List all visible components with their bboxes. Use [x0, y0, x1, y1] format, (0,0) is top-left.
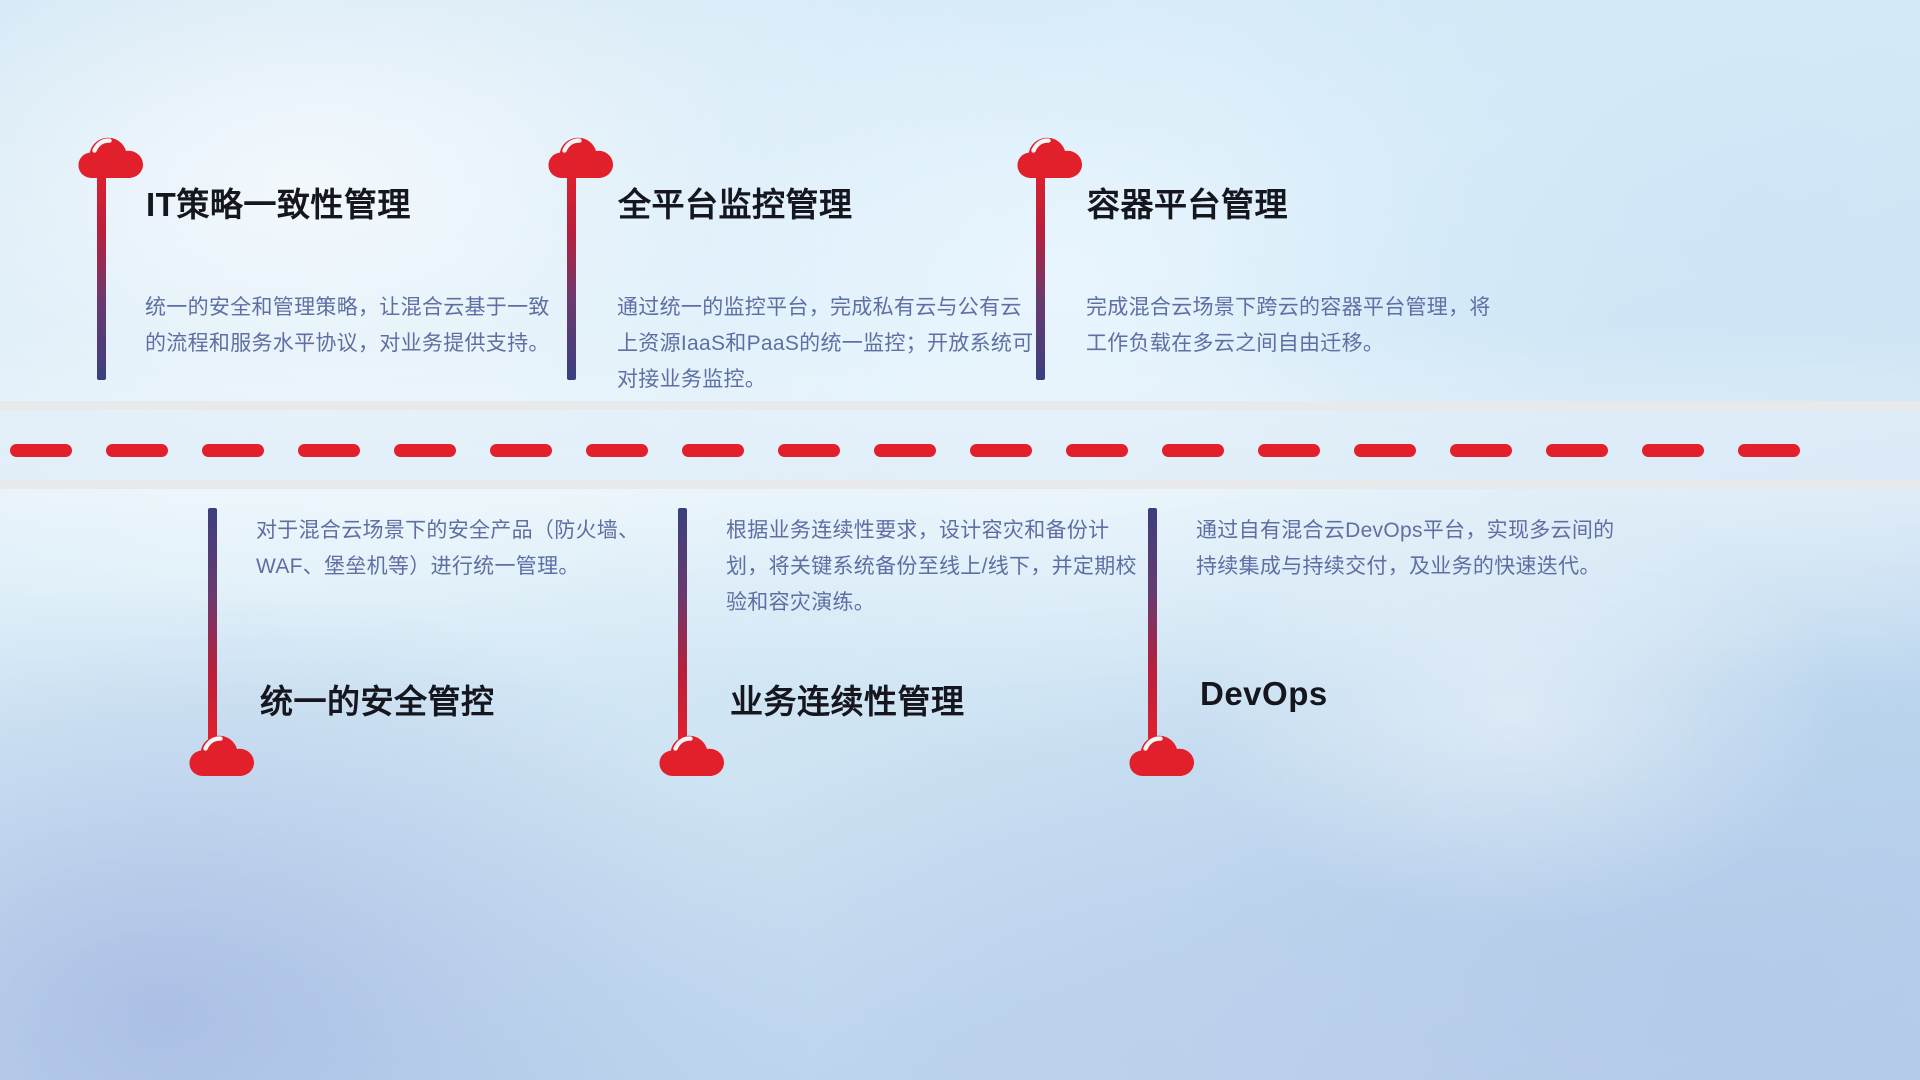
road-dash [202, 444, 264, 457]
road-dash [394, 444, 456, 457]
road-dash [874, 444, 936, 457]
road-dash [298, 444, 360, 457]
road-dash [970, 444, 1032, 457]
feature-title: 统一的安全管控 [260, 675, 495, 723]
connector-line [1036, 168, 1045, 380]
road-dash [1066, 444, 1128, 457]
cloud-icon [659, 730, 725, 778]
road-dash [1738, 444, 1800, 457]
feature-description: 对于混合云场景下的安全产品（防火墙、WAF、堡垒机等）进行统一管理。 [256, 513, 676, 585]
feature-title: IT策略一致性管理 [146, 178, 411, 226]
road-dash [1162, 444, 1224, 457]
road-dash [10, 444, 72, 457]
feature-description: 统一的安全和管理策略，让混合云基于一致的流程和服务水平协议，对业务提供支持。 [145, 290, 565, 362]
road-dash [490, 444, 552, 457]
road-edge-bottom [0, 480, 1920, 489]
cloud-icon [189, 730, 255, 778]
feature-title: 业务连续性管理 [730, 675, 965, 723]
cloud-icon [78, 132, 144, 180]
feature-description: 通过自有混合云DevOps平台，实现多云间的持续集成与持续交付，及业务的快速迭代… [1196, 513, 1616, 585]
road-dash [106, 444, 168, 457]
connector-line [567, 168, 576, 380]
feature-title: DevOps [1200, 675, 1328, 713]
connector-line [678, 508, 687, 740]
cloud-icon [548, 132, 614, 180]
connector-line [208, 508, 217, 740]
road-center-dashes [0, 443, 1920, 457]
road-dash [1546, 444, 1608, 457]
feature-title: 容器平台管理 [1087, 178, 1288, 226]
feature-title: 全平台监控管理 [618, 178, 853, 226]
road-dash [778, 444, 840, 457]
connector-line [97, 168, 106, 380]
cloud-icon [1129, 730, 1195, 778]
road-edge-top [0, 401, 1920, 410]
connector-line [1148, 508, 1157, 740]
road-dash [586, 444, 648, 457]
feature-description: 通过统一的监控平台，完成私有云与公有云上资源IaaS和PaaS的统一监控；开放系… [617, 290, 1037, 398]
feature-description: 根据业务连续性要求，设计容灾和备份计划，将关键系统备份至线上/线下，并定期校验和… [726, 513, 1146, 621]
cloud-icon [1017, 132, 1083, 180]
road-dash [682, 444, 744, 457]
road-dash [1258, 444, 1320, 457]
road-dash [1450, 444, 1512, 457]
road-dash [1354, 444, 1416, 457]
infographic-canvas: IT策略一致性管理 统一的安全和管理策略，让混合云基于一致的流程和服务水平协议，… [0, 0, 1920, 1080]
road-dash [1642, 444, 1704, 457]
feature-description: 完成混合云场景下跨云的容器平台管理，将工作负载在多云之间自由迁移。 [1086, 290, 1506, 362]
